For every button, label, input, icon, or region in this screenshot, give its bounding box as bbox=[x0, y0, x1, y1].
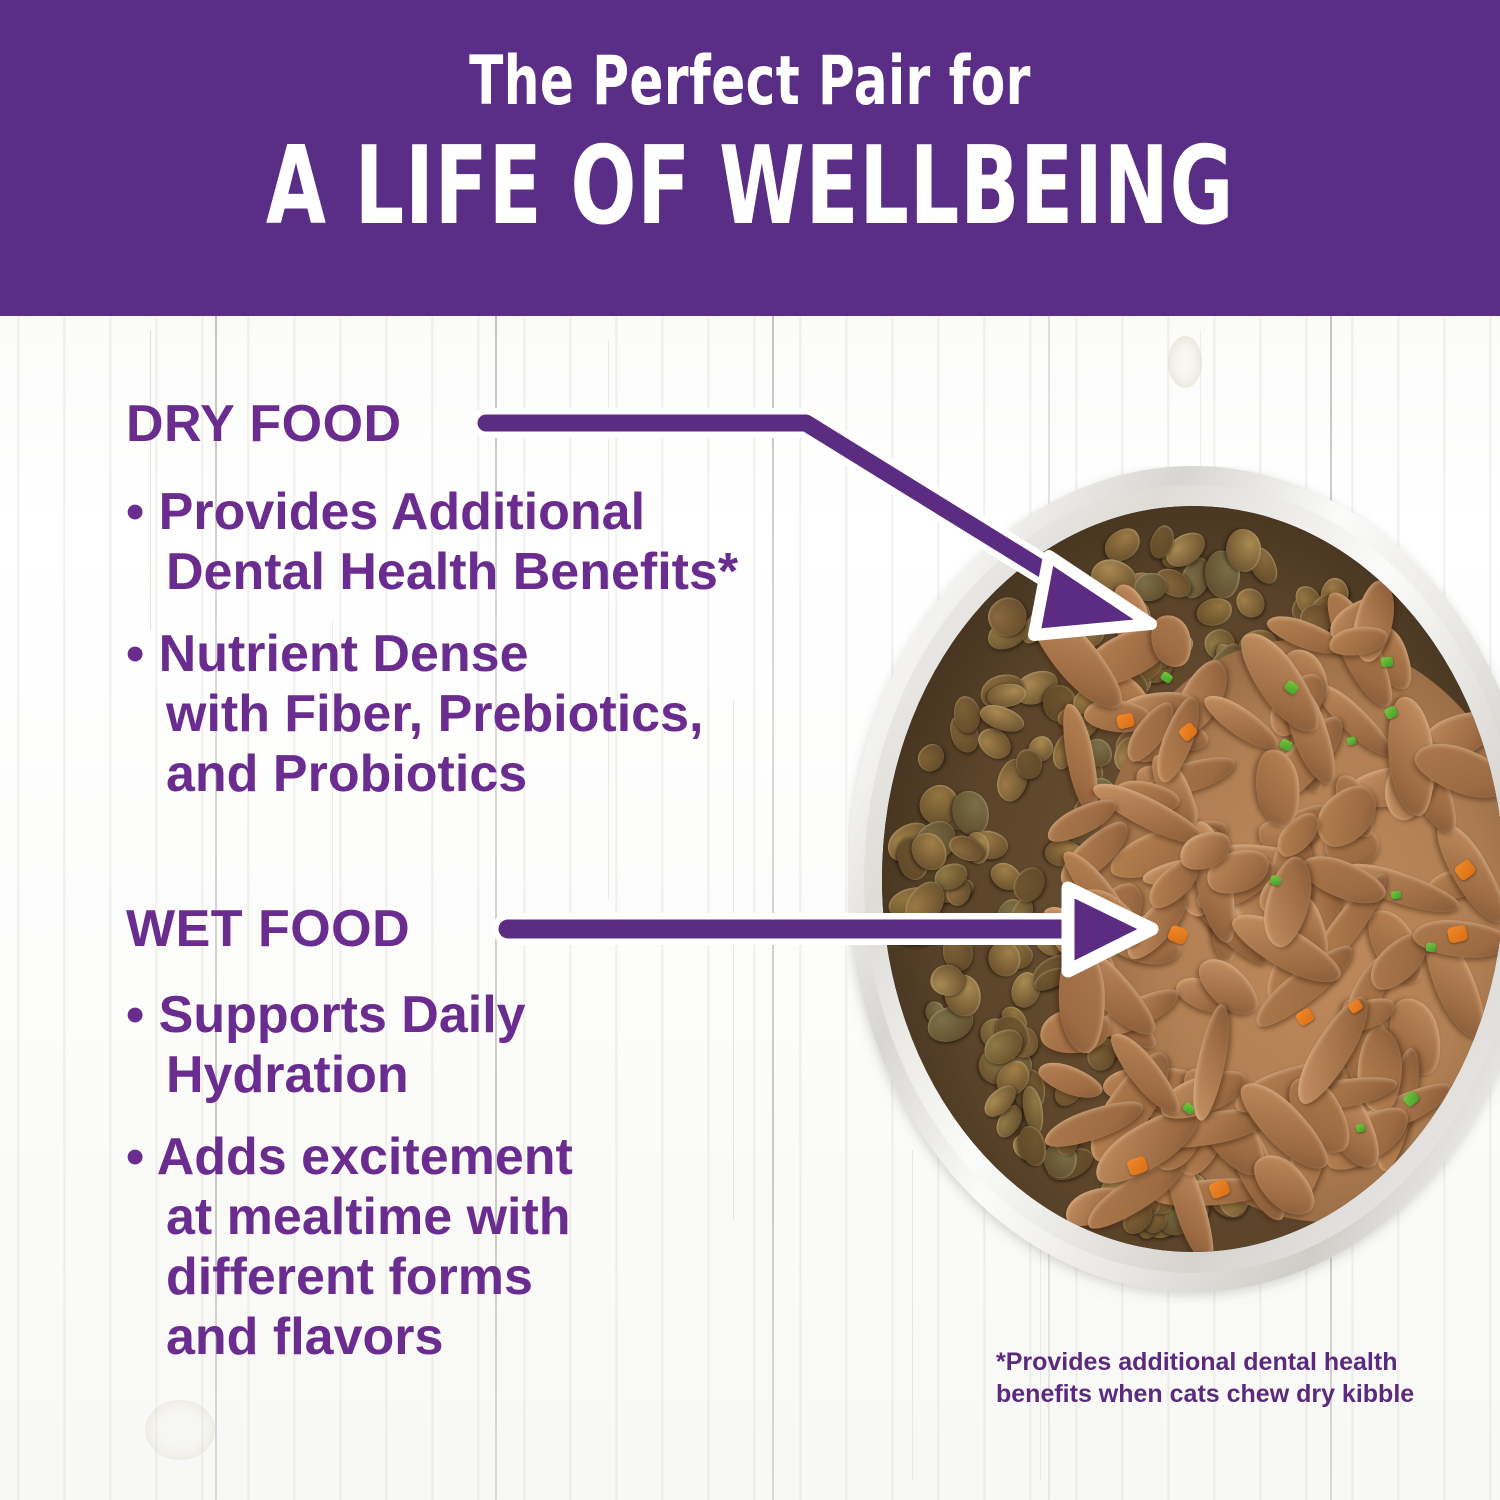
wood-knot bbox=[1168, 336, 1202, 388]
footnote-line: benefits when cats chew dry kibble bbox=[996, 1378, 1416, 1410]
bullet-item: • Adds excitement at mealtime with diffe… bbox=[126, 1127, 573, 1367]
bullet-item: • Supports Daily Hydration bbox=[126, 985, 573, 1105]
footnote: *Provides additional dental health benef… bbox=[996, 1346, 1416, 1410]
header-banner: The Perfect Pair for A LIFE OF WELLBEING bbox=[0, 0, 1500, 316]
bullet-line: • Nutrient Dense bbox=[126, 625, 529, 683]
bowl-interior bbox=[882, 506, 1500, 1252]
bullet-line: Hydration bbox=[166, 1046, 409, 1104]
pea-bit bbox=[1425, 942, 1436, 952]
bullet-line: • Supports Daily bbox=[126, 986, 526, 1044]
bullet-line: different forms bbox=[166, 1248, 533, 1306]
bullet-line: with Fiber, Prebiotics, bbox=[166, 685, 703, 743]
bullet-line: • Adds excitement bbox=[126, 1128, 573, 1186]
bullet-line: and Probiotics bbox=[166, 745, 527, 803]
banner-subtitle: The Perfect Pair for bbox=[135, 48, 1365, 116]
bullet-line: and flavors bbox=[166, 1308, 443, 1366]
bullet-item: • Provides Additional Dental Health Bene… bbox=[126, 482, 738, 602]
wet-food-bullets: • Supports Daily Hydration • Adds excite… bbox=[126, 985, 573, 1377]
pea-bit bbox=[1380, 656, 1393, 667]
section-title-wet-food: WET FOOD bbox=[126, 903, 410, 955]
cat-food-bowl-photo bbox=[848, 466, 1500, 1304]
banner-title: A LIFE OF WELLBEING bbox=[150, 133, 1350, 241]
wood-knot bbox=[145, 1400, 215, 1460]
promo-image-canvas: The Perfect Pair for A LIFE OF WELLBEING bbox=[0, 0, 1500, 1500]
dry-food-bullets: • Provides Additional Dental Health Bene… bbox=[126, 482, 738, 814]
bullet-line: at mealtime with bbox=[166, 1188, 571, 1246]
footnote-line: *Provides additional dental health bbox=[996, 1346, 1416, 1378]
section-title-dry-food: DRY FOOD bbox=[126, 398, 402, 450]
bullet-line: • Provides Additional bbox=[126, 483, 645, 541]
plank-seam bbox=[772, 316, 774, 1500]
bullet-line: Dental Health Benefits* bbox=[166, 543, 738, 601]
bullet-item: • Nutrient Dense with Fiber, Prebiotics,… bbox=[126, 624, 738, 804]
